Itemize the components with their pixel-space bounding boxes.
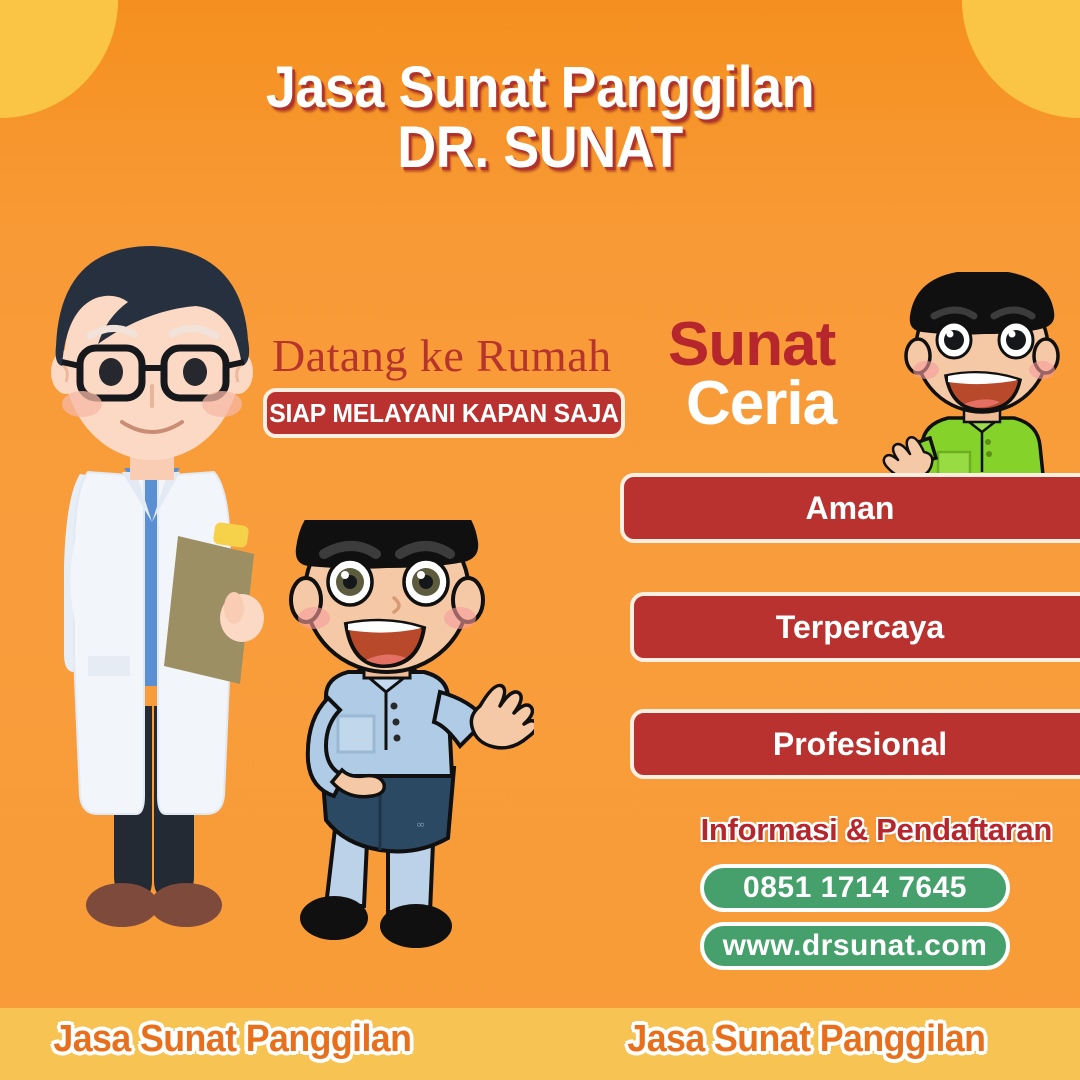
tagline-text: Datang ke Rumah [272,329,612,382]
footer-text-left: Jasa Sunat Panggilan [53,1018,411,1061]
brand-word-ceria: Ceria [668,375,836,434]
poster-header: Jasa Sunat Panggilan DR. SUNAT [0,58,1080,179]
availability-badge-label: SIAP MELAYANI KAPAN SAJA [269,398,619,429]
brand-heading: Sunat Ceria [668,316,836,434]
boy-main-illustration: ∞ [248,520,534,960]
contact-heading: Informasi & Pendaftaran [0,812,1080,848]
header-title-line2: DR. SUNAT [38,118,1042,178]
website-pill[interactable]: www.drsunat.com [700,922,1010,970]
website-url: www.drsunat.com [723,929,988,963]
boy-small-illustration [878,272,1074,484]
availability-badge: SIAP MELAYANI KAPAN SAJA [263,388,625,438]
footer-text-right: Jasa Sunat Panggilan [627,1018,985,1061]
feature-pill-profesional[interactable]: Profesional [630,709,1080,779]
feature-label-terpercaya: Terpercaya [776,609,944,646]
feature-label-aman: Aman [806,490,895,527]
feature-pill-terpercaya[interactable]: Terpercaya [630,592,1080,662]
feature-pill-aman[interactable]: Aman [620,473,1080,543]
brand-word-sunat: Sunat [668,316,836,375]
phone-number: 0851 1714 7645 [743,871,967,905]
feature-label-profesional: Profesional [773,726,947,763]
poster-canvas: Jasa Sunat Panggilan DR. SUNAT [0,0,1080,1080]
phone-pill[interactable]: 0851 1714 7645 [700,864,1010,912]
header-title-line1: Jasa Sunat Panggilan [38,58,1042,118]
